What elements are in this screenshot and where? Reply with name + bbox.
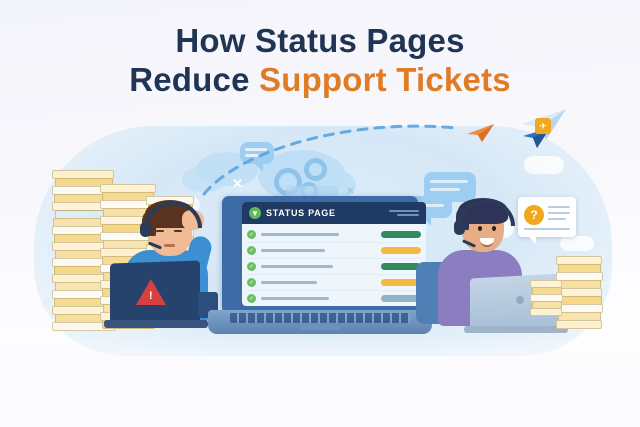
status-page-meta — [389, 210, 419, 216]
warning-glyph: ! — [149, 290, 153, 302]
laptop-lid: ▼ STATUS PAGE ✓ ✓ — [222, 196, 418, 314]
status-page-title: STATUS PAGE — [266, 208, 336, 218]
status-row[interactable]: ✓ — [247, 243, 421, 259]
bottom-fade — [0, 335, 640, 427]
title-line-2-prefix: Reduce — [129, 61, 259, 98]
status-badge — [381, 247, 421, 254]
check-icon: ✓ — [247, 262, 256, 271]
status-row[interactable]: ✓ — [247, 227, 421, 243]
status-badge — [381, 263, 421, 270]
check-icon: ✓ — [247, 230, 256, 239]
download-circle-icon: ▼ — [249, 207, 261, 219]
check-icon: ✓ — [247, 294, 256, 303]
title-line-2: Reduce Support Tickets — [0, 61, 640, 100]
laptop-keyboard — [230, 313, 410, 323]
laptop-trackpad — [300, 325, 340, 330]
x-mark-icon: ✕ — [40, 295, 52, 312]
status-badge — [381, 231, 421, 238]
status-row[interactable]: ✓ — [247, 291, 421, 306]
status-row[interactable]: ✓ — [247, 275, 421, 291]
check-icon: ✓ — [247, 278, 256, 287]
illustration-canvas: ✕ ✕ ✕ — [0, 0, 640, 427]
status-page-laptop: ▼ STATUS PAGE ✓ ✓ — [208, 196, 432, 342]
title-line-1: How Status Pages — [0, 22, 640, 61]
status-badge — [381, 295, 421, 302]
status-page-header: ▼ STATUS PAGE — [242, 202, 426, 224]
title-line-2-accent: Support Tickets — [259, 61, 511, 98]
send-badge-icon: ✈ — [535, 118, 551, 134]
status-row-list: ✓ ✓ ✓ ✓ — [242, 224, 426, 306]
status-page-screen[interactable]: ▼ STATUS PAGE ✓ ✓ — [242, 202, 426, 306]
page-title: How Status Pages Reduce Support Tickets — [0, 22, 640, 100]
magnifier-question-icon: ? — [524, 205, 544, 225]
check-icon: ✓ — [247, 246, 256, 255]
paper-plane-orange-icon — [466, 122, 496, 149]
status-row[interactable]: ✓ — [247, 259, 421, 275]
status-badge — [381, 279, 421, 286]
